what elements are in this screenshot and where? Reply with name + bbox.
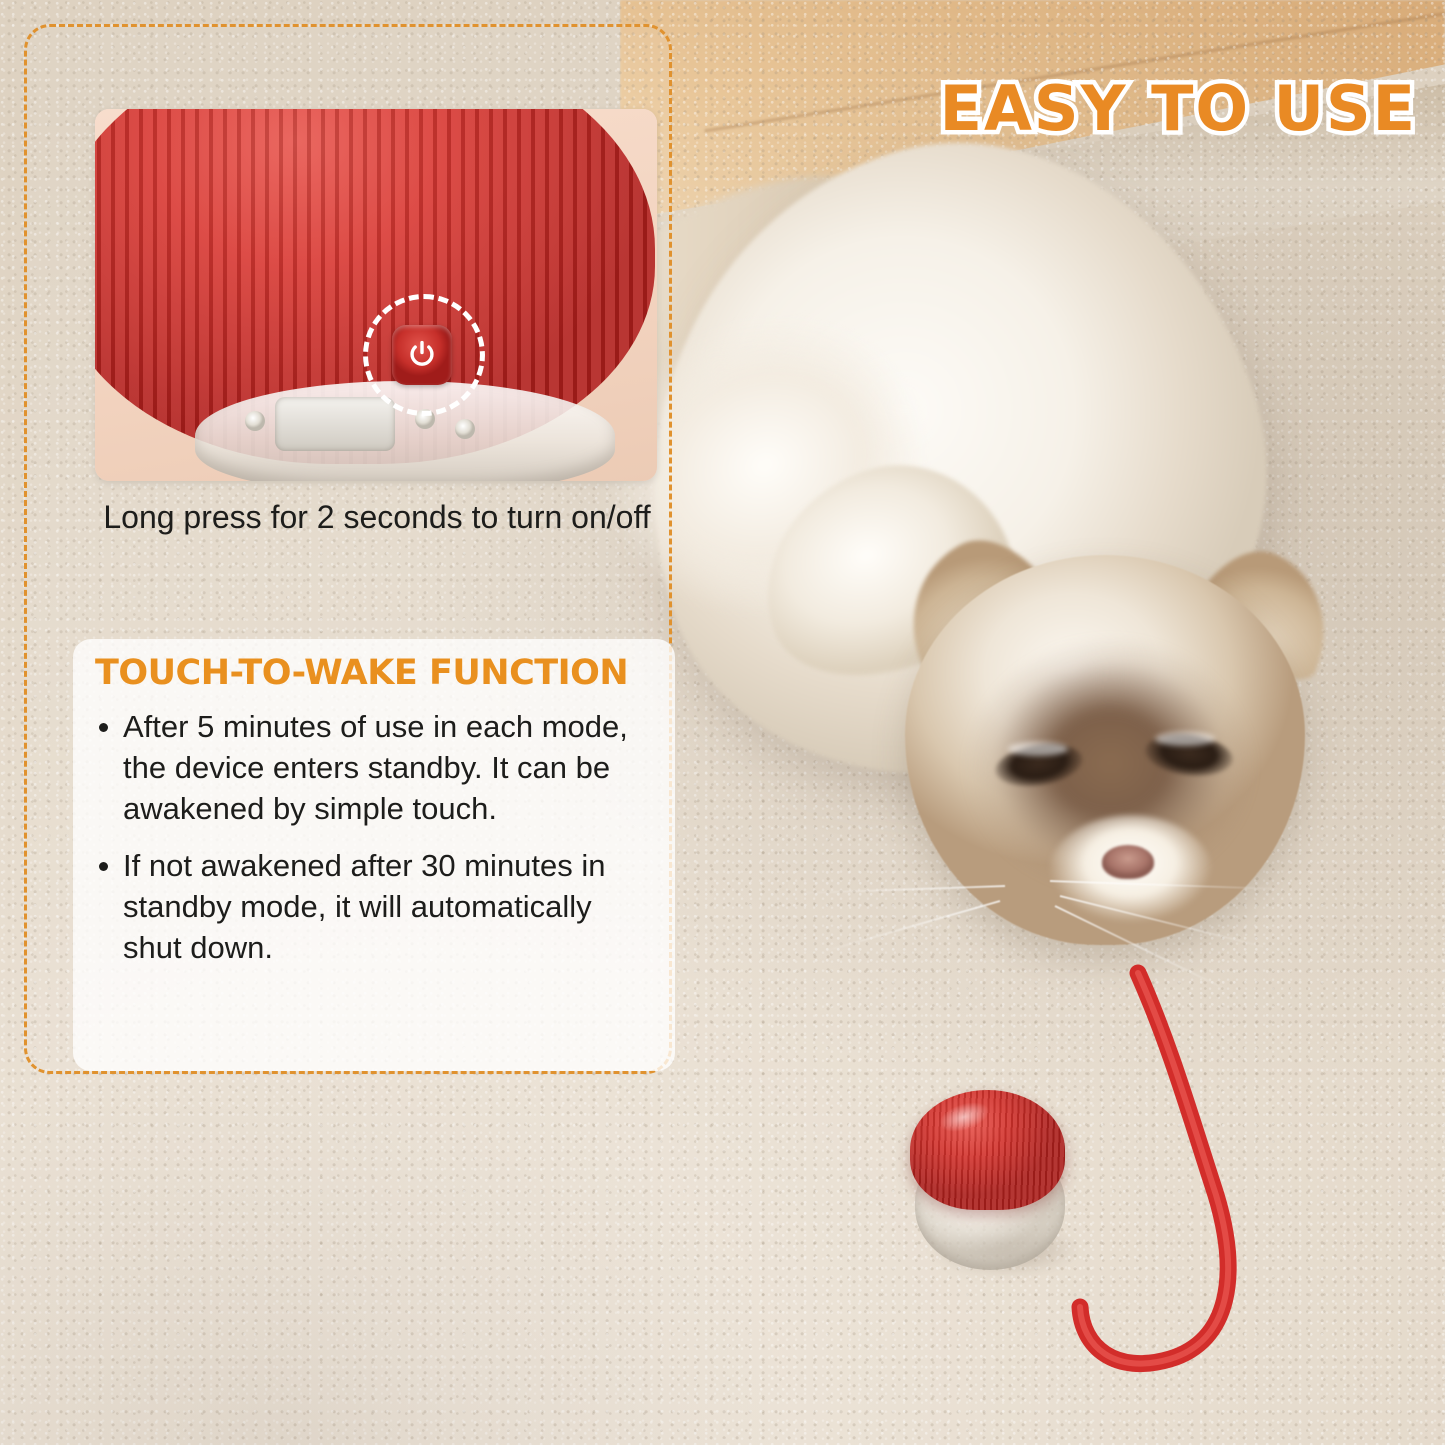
list-item: If not awakened after 30 minutes in stan…: [95, 846, 657, 969]
power-button-closeup: [95, 109, 657, 481]
cat-nose: [1102, 845, 1154, 879]
closeup-caption: Long press for 2 seconds to turn on/off: [89, 497, 665, 538]
list-item: After 5 minutes of use in each mode, the…: [95, 707, 657, 830]
power-icon[interactable]: [392, 325, 452, 385]
toy-string: [1020, 955, 1360, 1375]
page-title: EASY TO USE: [940, 72, 1417, 145]
info-panel: Long press for 2 seconds to turn on/off …: [24, 24, 672, 1074]
cat-eye-highlight-left: [1008, 742, 1068, 756]
cat-eye-highlight-right: [1155, 732, 1215, 746]
touch-to-wake-card: TOUCH-TO-WAKE FUNCTION After 5 minutes o…: [73, 639, 675, 1071]
section-title: TOUCH-TO-WAKE FUNCTION: [95, 653, 657, 693]
closeup-led: [245, 411, 265, 431]
closeup-base-ring: [275, 397, 395, 451]
feature-bullet-list: After 5 minutes of use in each mode, the…: [95, 707, 657, 968]
closeup-led: [455, 419, 475, 439]
product-infographic: EASY TO USE Long press for 2 seconds to …: [0, 0, 1445, 1445]
